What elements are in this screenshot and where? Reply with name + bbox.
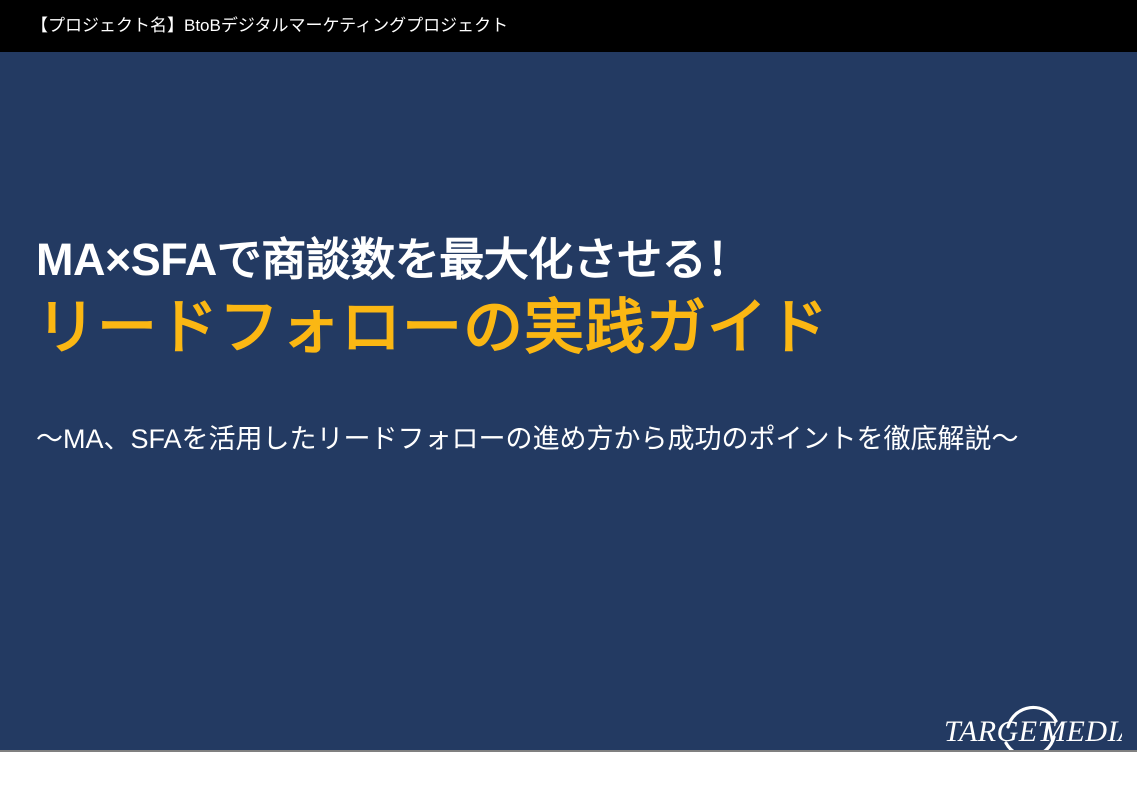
subtitle-text: 〜MA、SFAを活用したリードフォローの進め方から成功のポイントを徹底解説〜 (36, 420, 1019, 458)
slide-body: MA×SFAで商談数を最大化させる！ リードフォローの実践ガイド 〜MA、SFA… (0, 52, 1137, 750)
title-block: MA×SFAで商談数を最大化させる！ リードフォローの実践ガイド (36, 232, 1096, 366)
title-line-highlight: リードフォローの実践ガイド (36, 290, 1096, 366)
slide-root: 【プロジェクト名】BtoBデジタルマーケティングプロジェクト MA×SFAで商談… (0, 0, 1137, 785)
logo-word-target: TARGET (944, 715, 1057, 748)
header-band: 【プロジェクト名】BtoBデジタルマーケティングプロジェクト (0, 0, 1137, 52)
title-line-primary: MA×SFAで商談数を最大化させる！ (36, 232, 1096, 288)
logo-word-media: MEDIA (1040, 715, 1122, 748)
project-name-label: 【プロジェクト名】BtoBデジタルマーケティングプロジェクト (31, 14, 508, 38)
footer-area: Copyright © Target Media Inc. ALL RIGHTS… (0, 752, 1137, 785)
